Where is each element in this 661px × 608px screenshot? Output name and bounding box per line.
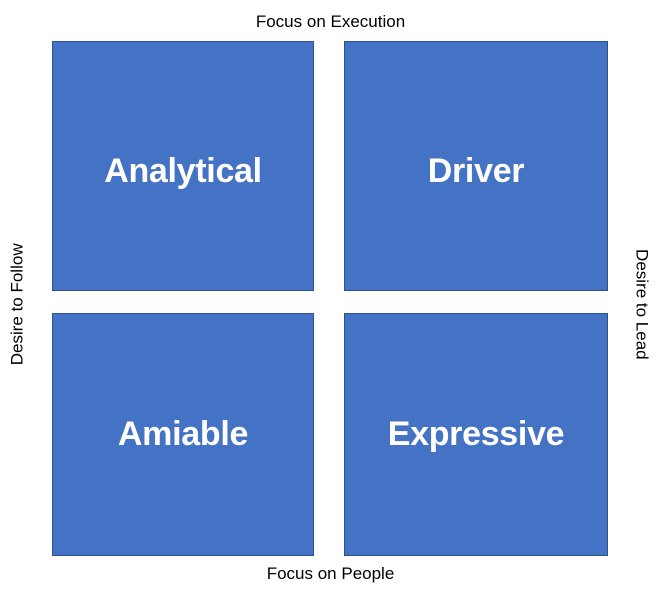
axis-label-top: Focus on Execution	[0, 13, 661, 32]
quadrant-expressive[interactable]: Expressive	[344, 313, 608, 556]
quadrant-label-driver: Driver	[428, 152, 524, 191]
quadrant-label-amiable: Amiable	[118, 415, 248, 454]
quadrant-driver[interactable]: Driver	[344, 41, 608, 291]
quadrant-analytical[interactable]: Analytical	[52, 41, 314, 291]
axis-label-right: Desire to Lead	[621, 0, 661, 608]
axis-label-top-text: Focus on Execution	[256, 12, 405, 31]
axis-label-left-text: Desire to Follow	[9, 243, 28, 365]
quadrant-amiable[interactable]: Amiable	[52, 313, 314, 556]
axis-label-bottom: Focus on People	[0, 565, 661, 584]
quadrant-label-analytical: Analytical	[104, 152, 262, 191]
quadrant-diagram: Focus on Execution Desire to Follow Desi…	[0, 0, 661, 608]
quadrant-grid: Analytical Driver Amiable Expressive	[52, 41, 608, 556]
quadrant-label-expressive: Expressive	[388, 415, 565, 454]
axis-label-right-text: Desire to Lead	[632, 249, 651, 360]
axis-label-bottom-text: Focus on People	[267, 564, 395, 583]
axis-label-left: Desire to Follow	[0, 0, 36, 608]
